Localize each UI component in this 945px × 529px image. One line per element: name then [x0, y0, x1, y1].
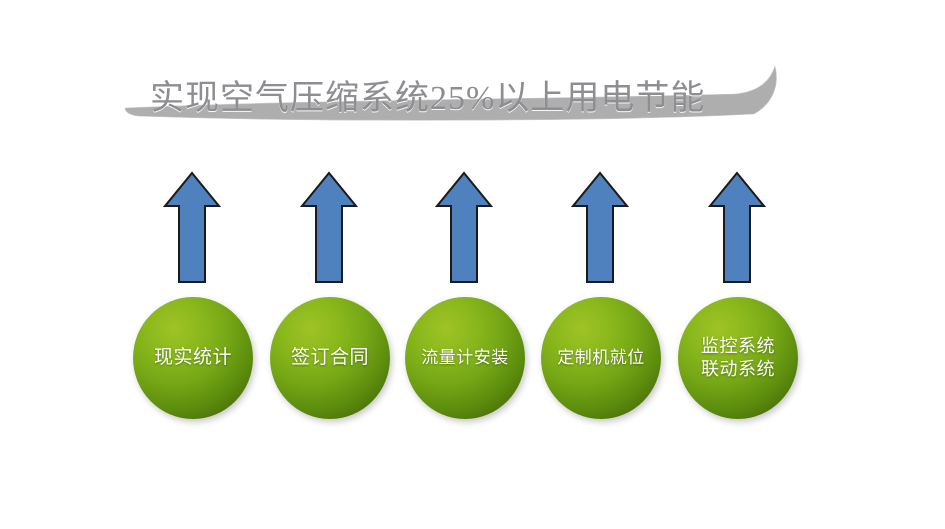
arrow-up-3 — [434, 170, 494, 285]
title-banner: 实现空气压缩系统25%以上用电节能 — [0, 28, 945, 138]
process-node-label-3: 流量计安装 — [417, 348, 513, 369]
arrow-up-2 — [299, 170, 359, 285]
process-node-label-5-line1: 监控系统 — [701, 335, 775, 358]
arrow-up-4 — [570, 170, 630, 285]
process-node-label-5-line2: 联动系统 — [701, 358, 775, 381]
arrow-up-1 — [162, 170, 222, 285]
process-node-label-5: 监控系统 联动系统 — [697, 335, 779, 382]
process-node-label-1: 现实统计 — [150, 346, 236, 369]
process-node-label-4: 定制机就位 — [553, 348, 649, 369]
process-node-label-2: 签订合同 — [287, 346, 373, 369]
process-node-5[interactable]: 监控系统 联动系统 — [678, 297, 798, 419]
page-title: 实现空气压缩系统25%以上用电节能 — [150, 74, 750, 124]
process-node-2[interactable]: 签订合同 — [270, 297, 390, 419]
slide-canvas: 实现空气压缩系统25%以上用电节能 现实统计 签订合同 流量计安装 — [0, 0, 945, 529]
process-node-1[interactable]: 现实统计 — [133, 297, 253, 419]
arrow-up-5 — [707, 170, 767, 285]
process-node-4[interactable]: 定制机就位 — [541, 297, 661, 419]
process-node-3[interactable]: 流量计安装 — [405, 297, 525, 419]
